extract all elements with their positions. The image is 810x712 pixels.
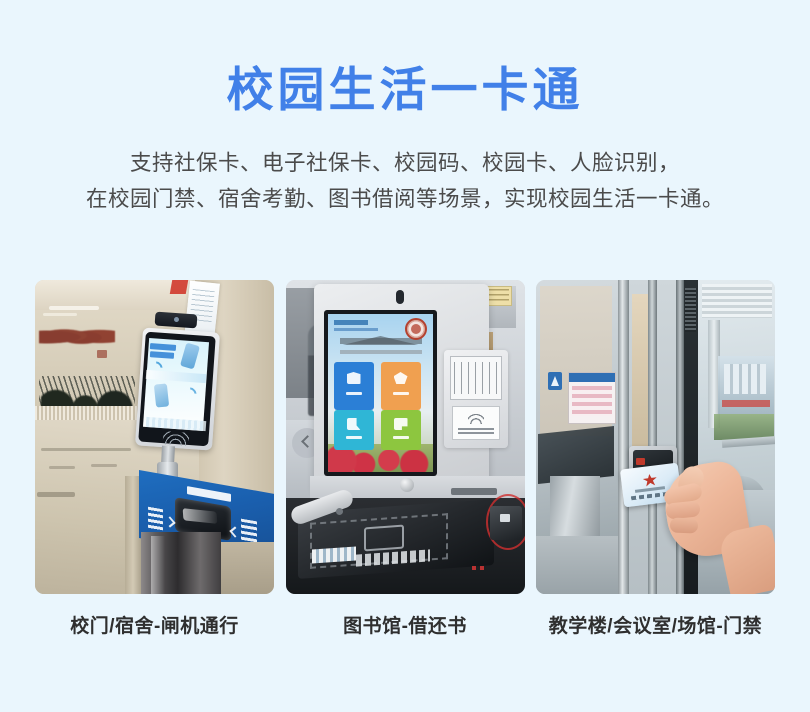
poster-body bbox=[572, 386, 612, 416]
kiosk-camera-icon bbox=[396, 290, 404, 304]
red-wall-tag bbox=[170, 280, 188, 294]
floor-seam bbox=[41, 448, 131, 451]
card-caption-library: 图书馆-借还书 bbox=[286, 611, 525, 638]
photo-library-self-service-kiosk bbox=[286, 280, 525, 594]
door-frame-vent bbox=[685, 288, 696, 332]
phone-illustration-icon bbox=[154, 383, 169, 407]
book-icon bbox=[364, 525, 404, 552]
card-caption-access-control: 教学楼/会议室/场馆-门禁 bbox=[536, 611, 775, 638]
device-indicator bbox=[500, 514, 510, 522]
tile-label bbox=[393, 392, 409, 395]
outdoor-red-banner bbox=[722, 400, 770, 407]
side-device bbox=[490, 506, 522, 540]
panel-instruction-text bbox=[454, 362, 498, 394]
outdoor-building bbox=[724, 364, 766, 394]
page-subtitle: 支持社保卡、电子社保卡、校园码、校园卡、人脸识别， 在校园门禁、宿舍考勤、图书借… bbox=[0, 145, 810, 217]
turnstile-label-right bbox=[241, 519, 257, 544]
scenario-card-list: 校门/宿舍-闸机通行 bbox=[35, 280, 775, 638]
reader-red-label bbox=[636, 458, 645, 465]
kiosk-tile-search[interactable] bbox=[334, 410, 374, 450]
turnstile-body-highlight bbox=[151, 536, 165, 594]
turnstile-label-left bbox=[148, 507, 163, 532]
door-mullion bbox=[618, 280, 629, 594]
nfc-reader-icon bbox=[163, 431, 190, 446]
tile-label bbox=[393, 436, 409, 439]
interior-floor bbox=[536, 536, 620, 594]
kiosk-subtitle-text bbox=[334, 328, 378, 331]
marketing-page: 校园生活一卡通 支持社保卡、电子社保卡、校园码、校园卡、人脸识别， 在校园门禁、… bbox=[0, 0, 810, 712]
ceiling-light-secondary bbox=[43, 313, 77, 316]
door-mullion bbox=[648, 280, 657, 594]
kiosk-tile-borrow[interactable] bbox=[334, 362, 374, 410]
scenario-card-library[interactable]: 图书馆-借还书 bbox=[286, 280, 525, 638]
photo-door-access-card-reader bbox=[536, 280, 775, 594]
poster-header bbox=[569, 373, 615, 382]
panel-tap-label bbox=[458, 428, 494, 435]
scenario-card-access-control[interactable]: 教学楼/会议室/场馆-门禁 bbox=[536, 280, 775, 638]
nfc-icon bbox=[468, 411, 484, 424]
tile-label bbox=[346, 436, 362, 439]
kiosk-tile-return[interactable] bbox=[381, 362, 421, 410]
floor-seam bbox=[37, 492, 75, 497]
tile-label bbox=[346, 392, 362, 395]
beige-door-panel bbox=[632, 294, 648, 462]
card-caption-gate: 校门/宿舍-闸机通行 bbox=[35, 611, 274, 638]
finger bbox=[670, 518, 699, 534]
floor-seam bbox=[49, 466, 75, 469]
photo-gate-face-recognition-terminal bbox=[35, 280, 274, 594]
wall-calligraphy bbox=[39, 324, 115, 350]
floor-seam bbox=[91, 464, 117, 467]
school-emblem-center bbox=[411, 324, 421, 334]
ceiling-louvers bbox=[702, 284, 772, 318]
receipt-slot bbox=[451, 488, 497, 495]
kiosk-tile-account[interactable] bbox=[381, 410, 421, 450]
subtitle-line-2: 在校园门禁、宿舍考勤、图书借阅等场景，实现校园生活一卡通。 bbox=[0, 181, 810, 217]
kiosk-title-text bbox=[334, 320, 368, 325]
page-title: 校园生活一卡通 bbox=[0, 0, 810, 113]
ceiling-light bbox=[49, 306, 99, 310]
scenario-card-gate[interactable]: 校门/宿舍-闸机通行 bbox=[35, 280, 274, 638]
status-led-icons bbox=[472, 566, 486, 570]
counter-knob bbox=[400, 478, 414, 492]
book-icon bbox=[347, 372, 361, 384]
turnstile-side-wall bbox=[221, 542, 274, 594]
calligraphy-stamp bbox=[97, 350, 107, 358]
subtitle-line-1: 支持社保卡、电子社保卡、校园码、校园卡、人脸识别， bbox=[0, 145, 810, 181]
